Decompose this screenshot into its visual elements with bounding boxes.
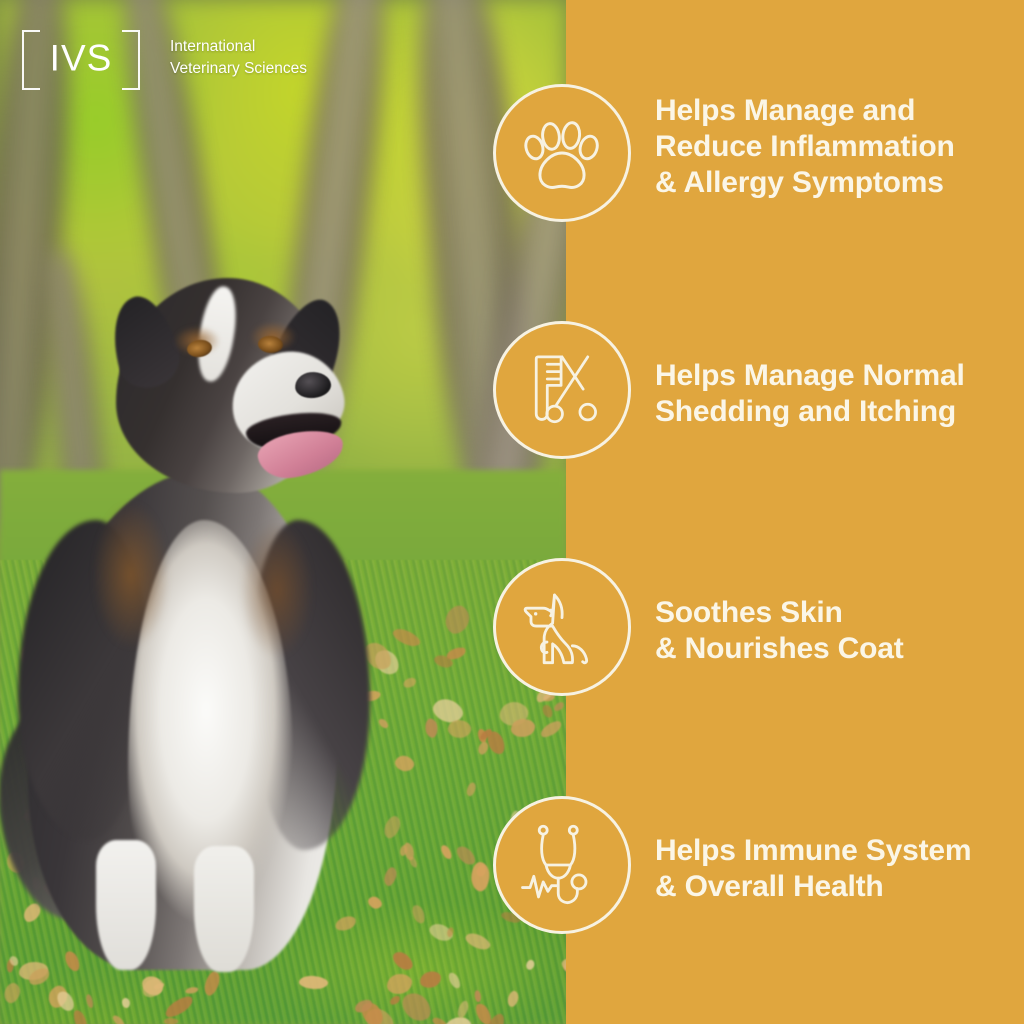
dog-tan-marking bbox=[92, 500, 170, 650]
logo-mark-text: IVS bbox=[22, 40, 140, 77]
ivs-logo[interactable]: IVS International Veterinary Sciences bbox=[22, 30, 307, 86]
dog-subject bbox=[0, 0, 566, 1024]
benefit-1-line-3: & Allergy Symptoms bbox=[655, 165, 1015, 201]
dog-tan-marking bbox=[240, 520, 314, 660]
benefit-icon-circle-1 bbox=[493, 84, 631, 222]
benefit-1-line-1: Helps Manage and bbox=[655, 93, 1015, 129]
paw-print-icon bbox=[516, 107, 608, 199]
benefit-1-line-2: Reduce Inflammation bbox=[655, 129, 1015, 165]
benefit-text-2: Helps Manage Normal Shedding and Itching bbox=[655, 358, 1015, 430]
benefit-icon-circle-2 bbox=[493, 321, 631, 459]
benefit-3-line-2: & Nourishes Coat bbox=[655, 631, 1015, 667]
logo-bracket-frame: IVS bbox=[22, 30, 140, 86]
benefit-3-line-1: Soothes Skin bbox=[655, 595, 1015, 631]
comb-and-scissors-icon bbox=[516, 344, 608, 436]
benefit-4-line-2: & Overall Health bbox=[655, 869, 1015, 905]
dog-front-leg-right bbox=[194, 846, 254, 972]
dog-front-leg-left bbox=[96, 840, 156, 970]
benefit-4-line-1: Helps Immune System bbox=[655, 833, 1015, 869]
logo-tagline-line1: International bbox=[170, 36, 307, 58]
benefit-2-line-2: Shedding and Itching bbox=[655, 394, 1015, 430]
benefit-text-3: Soothes Skin & Nourishes Coat bbox=[655, 595, 1015, 667]
benefit-text-1: Helps Manage and Reduce Inflammation & A… bbox=[655, 93, 1015, 201]
stethoscope-heartbeat-icon bbox=[515, 818, 609, 912]
dog-photo bbox=[0, 0, 566, 1024]
product-benefits-banner: IVS International Veterinary Sciences He… bbox=[0, 0, 1024, 1024]
benefit-2-line-1: Helps Manage Normal bbox=[655, 358, 1015, 394]
benefit-text-4: Helps Immune System & Overall Health bbox=[655, 833, 1015, 905]
logo-tagline-line2: Veterinary Sciences bbox=[170, 58, 307, 80]
benefit-icon-circle-3 bbox=[493, 558, 631, 696]
sitting-dog-icon bbox=[515, 580, 609, 674]
benefit-icon-circle-4 bbox=[493, 796, 631, 934]
logo-tagline: International Veterinary Sciences bbox=[170, 36, 307, 81]
